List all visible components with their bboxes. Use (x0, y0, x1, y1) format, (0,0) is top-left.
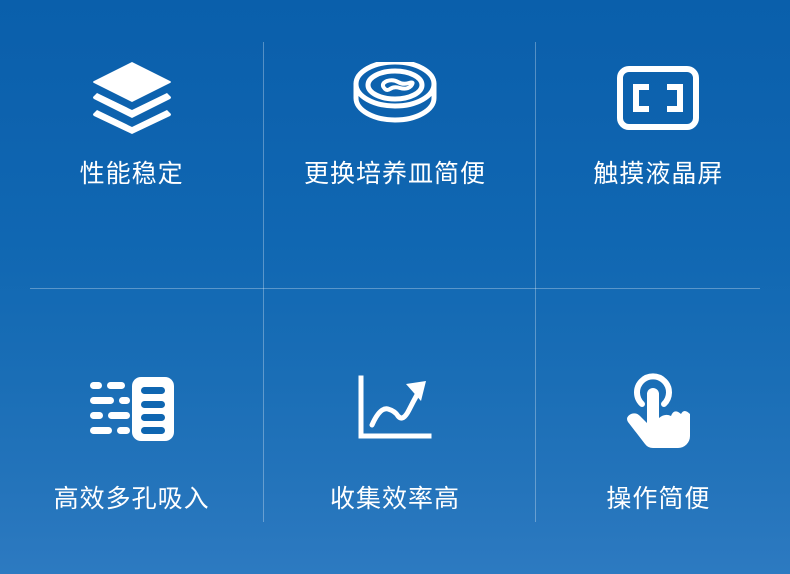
feature-cell-multi-hole-suction[interactable]: 高效多孔吸入 (0, 287, 263, 574)
feature-label: 操作简便 (606, 486, 710, 514)
feature-label: 收集效率高 (330, 486, 460, 514)
perforated-plate-icon (88, 366, 176, 452)
feature-label: 高效多孔吸入 (54, 486, 210, 514)
feature-label: 性能稳定 (80, 161, 184, 189)
feature-cell-collection-efficiency[interactable]: 收集效率高 (263, 287, 526, 574)
feature-grid: 性能稳定 更换培养皿简便 触摸液晶屏 (0, 0, 790, 574)
feature-label: 更换培养皿简便 (304, 161, 486, 189)
touch-screen-icon (616, 55, 700, 141)
feature-cell-easy-dish-change[interactable]: 更换培养皿简便 (263, 0, 526, 287)
petri-dish-icon (351, 55, 439, 141)
feature-cell-performance-stable[interactable]: 性能稳定 (0, 0, 263, 287)
tap-hand-icon (620, 366, 696, 452)
layers-stack-icon (91, 55, 173, 141)
feature-cell-touch-lcd-screen[interactable]: 触摸液晶屏 (527, 0, 790, 287)
rising-chart-icon (356, 366, 434, 452)
feature-label: 触摸液晶屏 (593, 161, 723, 189)
feature-cell-easy-operation[interactable]: 操作简便 (527, 287, 790, 574)
